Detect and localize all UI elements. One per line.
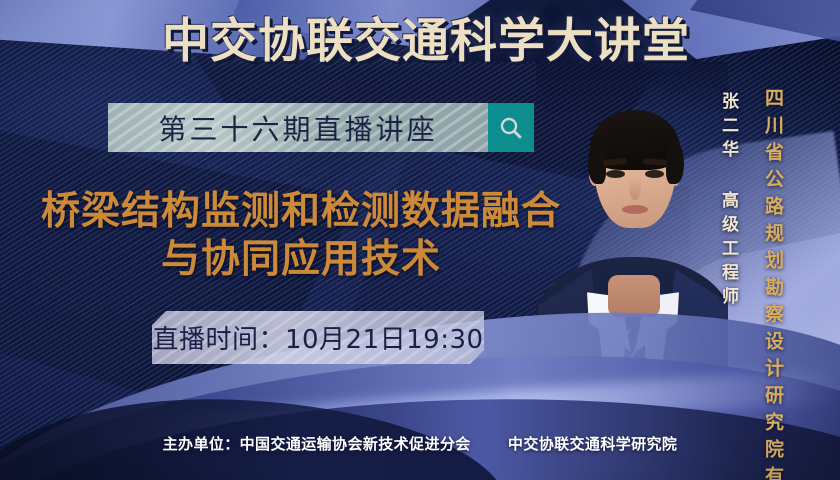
episode-banner: 第三十六期直播讲座 [108, 103, 488, 152]
webinar-poster: 中交协联交通科学大讲堂 第三十六期直播讲座 桥梁结构监测和检测数据融合 与协同应… [0, 0, 840, 480]
footer-organizer-secondary: 中交协联交通科学研究院 [508, 435, 677, 453]
footer-organizers: 主办单位：中国交通运输协会新技术促进分会 中交协联交通科学研究院 [0, 433, 840, 454]
speaker-name-vertical: 张二华 高级工程师 [716, 92, 741, 311]
organization-name-vertical: 四川省公路规划勘察设计研究院有限公司 [760, 88, 787, 480]
search-icon [498, 115, 524, 141]
episode-label: 第三十六期直播讲座 [158, 108, 437, 148]
footer-organizer-primary: 主办单位：中国交通运输协会新技术促进分会 [163, 435, 471, 453]
poster-content: 中交协联交通科学大讲堂 第三十六期直播讲座 桥梁结构监测和检测数据融合 与协同应… [0, 0, 840, 480]
live-time-badge: 直播时间：10月21日19:30 [152, 311, 484, 364]
lecture-title-line-1: 桥梁结构监测和检测数据融合 [41, 189, 561, 234]
lecture-title: 桥梁结构监测和检测数据融合 与协同应用技术 [36, 188, 566, 283]
search-button[interactable] [488, 103, 534, 152]
lecture-title-line-2: 与协同应用技术 [36, 236, 566, 284]
page-title: 中交协联交通科学大讲堂 [0, 18, 840, 65]
live-time-label: 直播时间：10月21日19:30 [152, 319, 483, 356]
